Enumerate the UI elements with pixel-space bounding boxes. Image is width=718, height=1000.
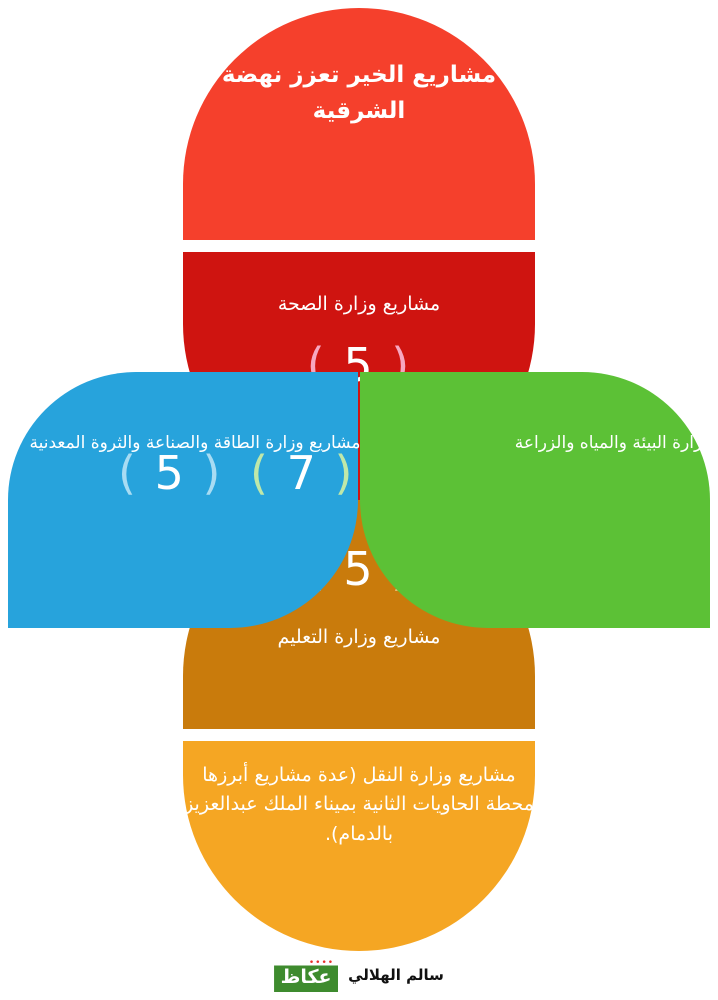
divider-bottom <box>183 729 535 741</box>
petal-environment-count: ( 7 ) <box>250 450 354 496</box>
divider-top <box>183 240 535 252</box>
author-name: سالم الهلالي <box>348 966 444 984</box>
petal-transport: مشاريع وزارة النقل (عدة مشاريع أبرزها مح… <box>183 739 535 951</box>
petal-energy-count: ( 5 ) <box>118 450 222 496</box>
petal-top-headline: مشاريع الخير تعزز نهضة الشرقية <box>183 8 535 246</box>
petal-energy: مشاريع وزارة الطاقة والصناعة والثروة الم… <box>8 372 358 628</box>
okaz-logo-dots: •••• <box>309 958 334 968</box>
petal-environment-label: مشاريع وزارة البيئة والمياه والزراعة <box>406 430 718 456</box>
petal-health-label: مشاريع وزارة الصحة <box>143 290 575 319</box>
headline-text: مشاريع الخير تعزز نهضة الشرقية <box>143 58 575 129</box>
infographic-canvas: مشاريع الخير تعزز نهضة الشرقية مشاريع وز… <box>0 0 718 1000</box>
petal-transport-text: مشاريع وزارة النقل (عدة مشاريع أبرزها مح… <box>135 761 583 849</box>
footer: سالم الهلالي عكاظ •••• <box>0 958 718 992</box>
petal-environment: مشاريع وزارة البيئة والمياه والزراعة ( 7… <box>360 372 710 628</box>
okaz-logo-icon: عكاظ •••• <box>274 958 338 992</box>
